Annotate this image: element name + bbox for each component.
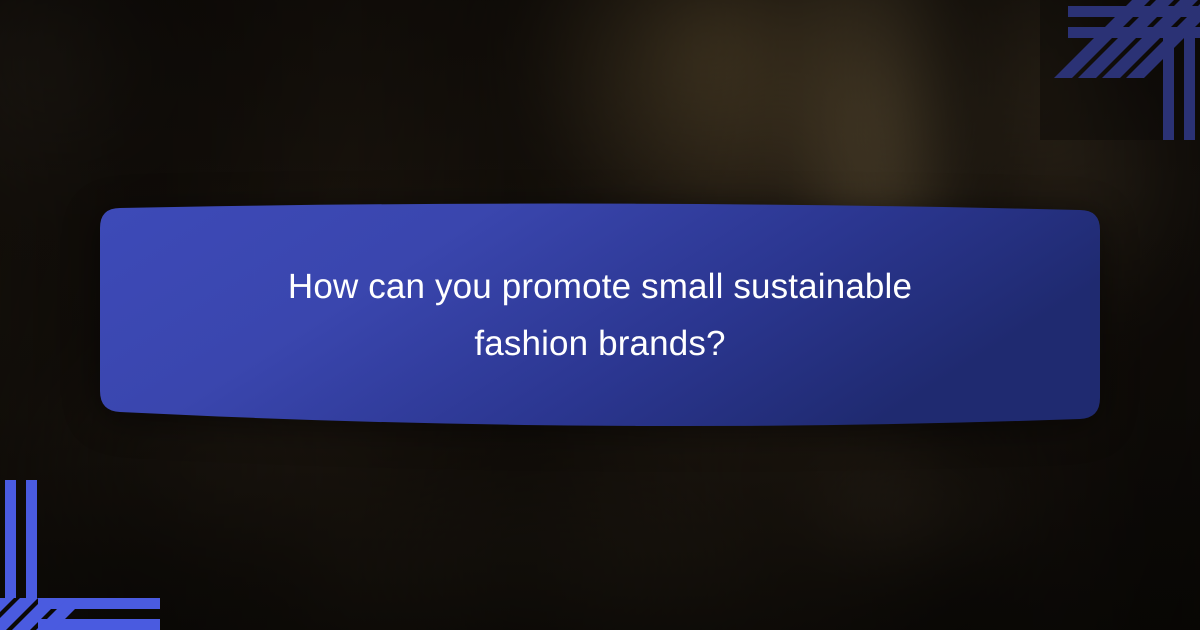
question-card-text: How can you promote small sustainable fa… xyxy=(100,200,1100,432)
question-card: How can you promote small sustainable fa… xyxy=(100,200,1100,432)
page-title: How can you promote small sustainable fa… xyxy=(250,259,950,372)
share-card-canvas: How can you promote small sustainable fa… xyxy=(0,0,1200,630)
